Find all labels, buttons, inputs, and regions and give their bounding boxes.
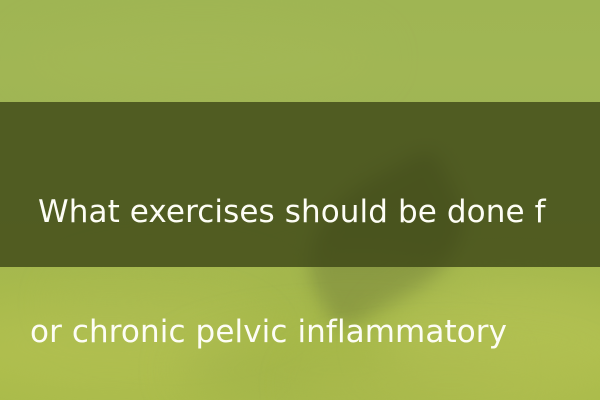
page-title-line: What exercises should be done f — [0, 192, 592, 232]
page-title: What exercises should be done f or chron… — [0, 112, 600, 400]
article-title-card: What exercises should be done f or chron… — [0, 0, 600, 400]
page-title-line: or chronic pelvic inflammatory — [0, 312, 592, 352]
background-blur-blotch — [20, 18, 380, 98]
title-overlay-band: What exercises should be done f or chron… — [0, 102, 600, 267]
